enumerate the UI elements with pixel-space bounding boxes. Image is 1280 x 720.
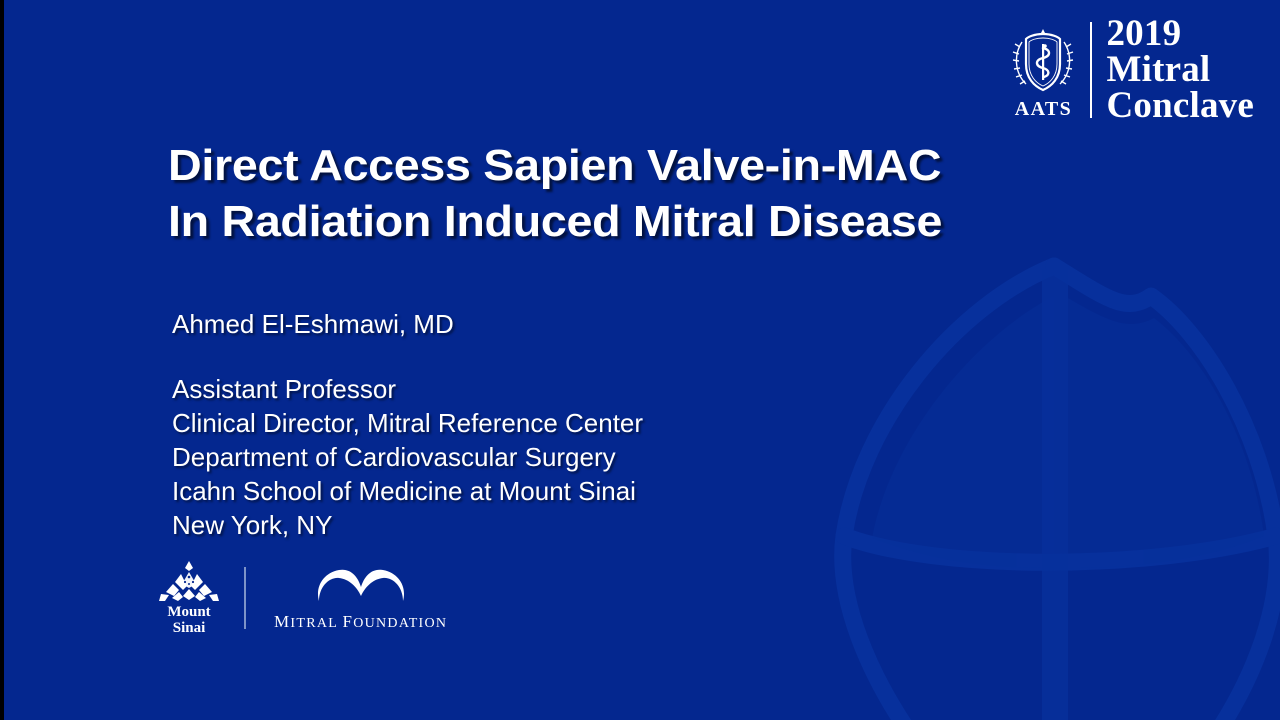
conclave-line-year: 2019 — [1106, 16, 1254, 52]
author-name: Ahmed El-Eshmawi, MD — [172, 307, 643, 341]
mitral-foundation-wordmark: MITRAL FOUNDATION — [274, 612, 447, 632]
logo-separator — [244, 567, 246, 629]
mount-sinai-line-1: Mount — [167, 604, 210, 620]
mf-cap-f: F — [342, 612, 353, 631]
aats-emblem: AATS — [1004, 20, 1082, 119]
mitral-valve-watermark — [806, 236, 1280, 720]
affiliation-list: Assistant Professor Clinical Director, M… — [172, 372, 643, 542]
mount-sinai-line-2: Sinai — [167, 620, 210, 636]
conclave-line-mitral: Mitral — [1106, 52, 1254, 88]
affiliation-line: Clinical Director, Mitral Reference Cent… — [172, 406, 643, 440]
mf-cap-m: M — [274, 612, 290, 631]
mount-sinai-logo: Mount Sinai — [158, 560, 220, 636]
page-title: Direct Access Sapien Valve-in-MAC In Rad… — [168, 138, 898, 250]
affiliation-line: Assistant Professor — [172, 372, 643, 406]
author-block: Ahmed El-Eshmawi, MD Assistant Professor… — [172, 307, 643, 542]
conclave-line-conclave: Conclave — [1106, 88, 1254, 124]
mf-rest-oundation: OUNDATION — [353, 616, 447, 631]
title-slide: AATS 2019 Mitral Conclave Direct Access … — [0, 0, 1280, 720]
institution-logos: Mount Sinai MITRAL FOUNDATION — [158, 560, 447, 636]
conclave-wordmark: 2019 Mitral Conclave — [1106, 16, 1254, 124]
aats-shield-icon — [1006, 20, 1080, 98]
mf-rest-itral: ITRAL — [290, 616, 337, 631]
affiliation-line: Department of Cardiovascular Surgery — [172, 440, 643, 474]
logo-divider — [1090, 22, 1092, 118]
conference-logo: AATS 2019 Mitral Conclave — [1004, 16, 1254, 124]
mitral-valve-leaflet-icon — [313, 565, 409, 605]
title-line-1: Direct Access Sapien Valve-in-MAC — [168, 138, 942, 194]
mount-sinai-wordmark: Mount Sinai — [167, 604, 210, 636]
mount-sinai-mountain-icon — [159, 560, 219, 602]
title-line-2: In Radiation Induced Mitral Disease — [168, 194, 942, 250]
mitral-foundation-logo: MITRAL FOUNDATION — [274, 565, 447, 632]
left-edge-bar — [0, 0, 4, 720]
affiliation-line: Icahn School of Medicine at Mount Sinai — [172, 474, 643, 508]
aats-label: AATS — [1015, 99, 1072, 119]
affiliation-line: New York, NY — [172, 508, 643, 542]
